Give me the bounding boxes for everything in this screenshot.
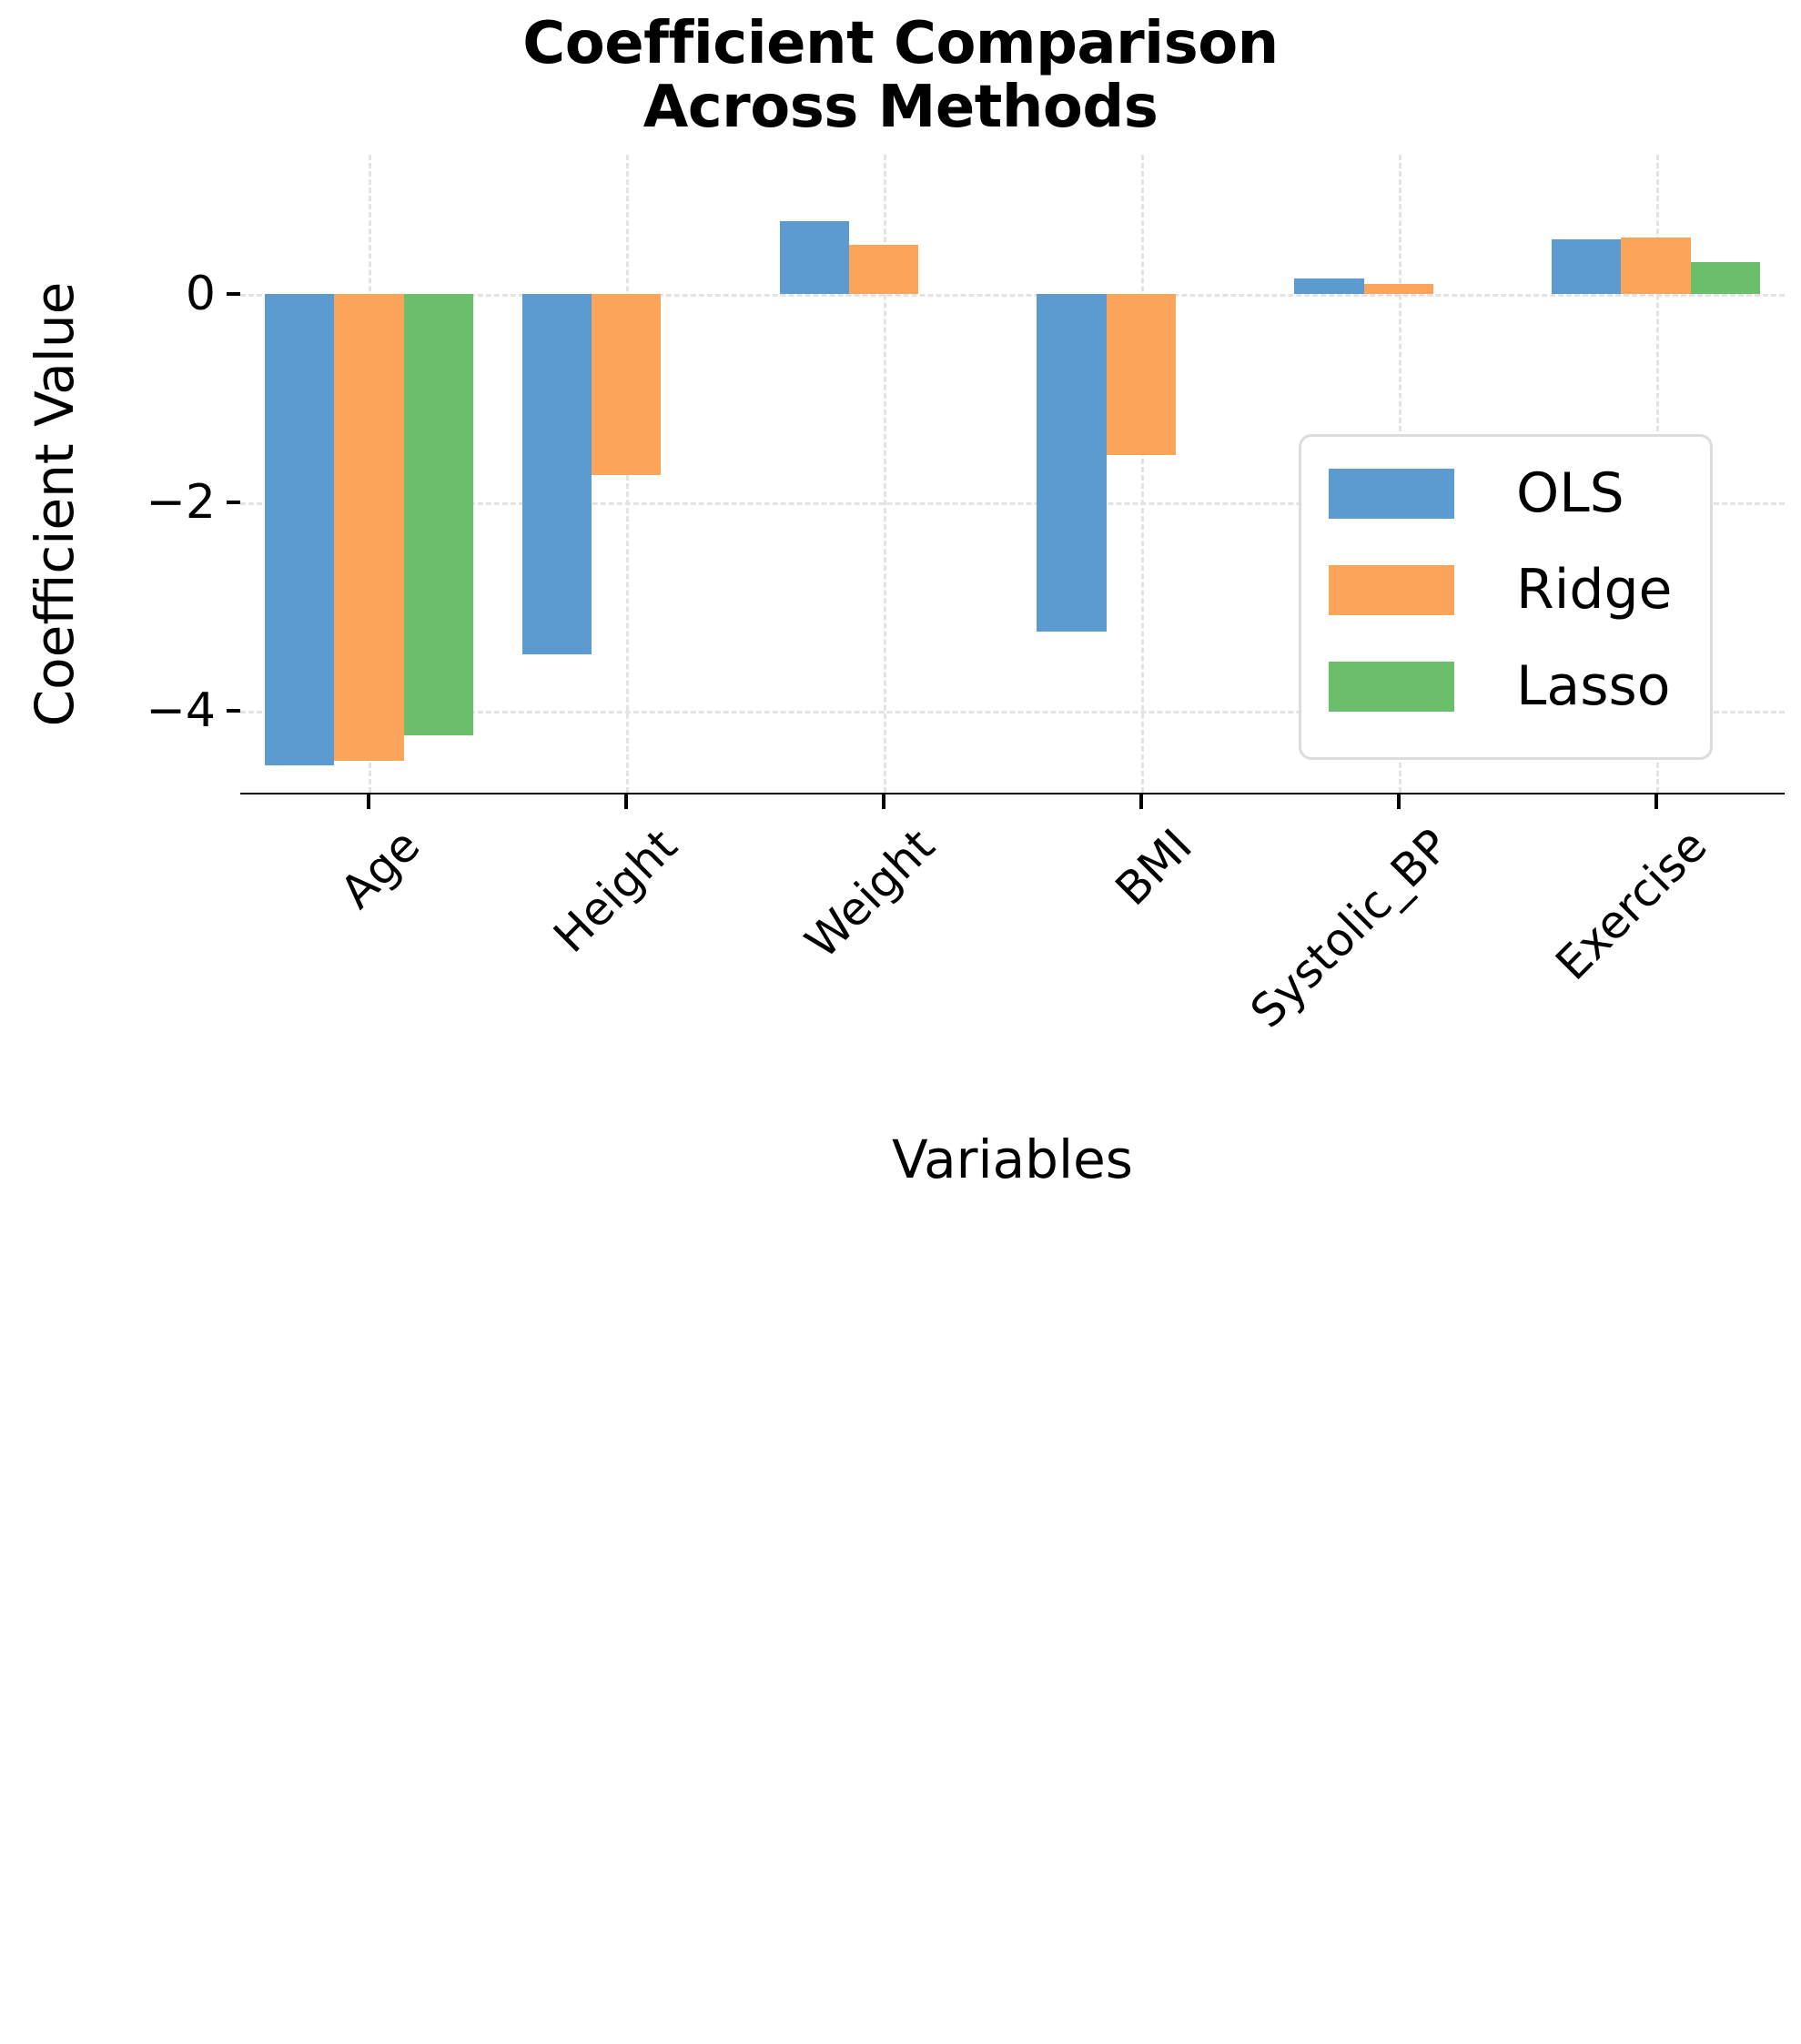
x-tick-mark bbox=[624, 794, 628, 809]
legend-label-lasso: Lasso bbox=[1516, 659, 1670, 713]
x-tick-mark bbox=[1139, 794, 1143, 809]
x-tick-mark bbox=[882, 794, 885, 809]
bar-ols-systolic_bp[interactable] bbox=[1294, 278, 1363, 294]
bar-ridge-exercise[interactable] bbox=[1621, 238, 1690, 294]
y-tick-label: −4 bbox=[146, 683, 216, 738]
x-axis-label: Variables bbox=[240, 1128, 1785, 1190]
y-axis-label: Coefficient Value bbox=[24, 177, 86, 832]
chart-figure: Coefficient Comparison Across Methods 0−… bbox=[0, 0, 1801, 1256]
bar-ols-exercise[interactable] bbox=[1552, 239, 1621, 294]
x-tick-label-exercise: Exercise bbox=[492, 819, 1717, 2044]
bar-lasso-exercise[interactable] bbox=[1691, 262, 1760, 294]
y-tick-label: −2 bbox=[146, 475, 216, 530]
x-tick-label-bmi: BMI bbox=[341, 819, 1202, 1680]
bar-ridge-height[interactable] bbox=[592, 294, 661, 475]
bar-ols-age[interactable] bbox=[265, 294, 334, 765]
y-tick-mark bbox=[227, 501, 240, 504]
x-tick-label-height: Height bbox=[190, 819, 687, 1316]
bar-ridge-age[interactable] bbox=[334, 294, 403, 761]
gridline-vertical bbox=[1141, 155, 1144, 793]
legend-item-ols[interactable]: OLS bbox=[1329, 460, 1693, 526]
y-tick-mark bbox=[227, 292, 240, 296]
legend-label-ridge: Ridge bbox=[1516, 562, 1672, 617]
y-tick-mark bbox=[227, 709, 240, 713]
x-tick-mark bbox=[367, 794, 370, 809]
x-tick-mark bbox=[1397, 794, 1401, 809]
legend-label-ols: OLS bbox=[1516, 466, 1624, 521]
x-tick-mark bbox=[1654, 794, 1658, 809]
chart-title: Coefficient Comparison Across Methods bbox=[0, 13, 1801, 140]
bar-ridge-weight[interactable] bbox=[849, 245, 918, 294]
y-tick-label: 0 bbox=[186, 267, 216, 321]
legend-item-lasso[interactable]: Lasso bbox=[1329, 653, 1693, 719]
bar-ols-weight[interactable] bbox=[780, 221, 849, 294]
bar-ridge-systolic_bp[interactable] bbox=[1364, 284, 1433, 294]
legend-swatch-lasso bbox=[1329, 662, 1454, 712]
bar-ridge-bmi[interactable] bbox=[1107, 294, 1176, 455]
legend-swatch-ols bbox=[1329, 469, 1454, 519]
bar-lasso-age[interactable] bbox=[404, 294, 473, 735]
bar-ols-height[interactable] bbox=[522, 294, 592, 654]
chart-legend[interactable]: OLSRidgeLasso bbox=[1299, 434, 1713, 760]
legend-swatch-ridge bbox=[1329, 565, 1454, 615]
x-tick-label-systolic_bp: Systolic_BP bbox=[417, 819, 1460, 1862]
bar-ols-bmi[interactable] bbox=[1037, 294, 1106, 632]
legend-item-ridge[interactable]: Ridge bbox=[1329, 557, 1693, 622]
